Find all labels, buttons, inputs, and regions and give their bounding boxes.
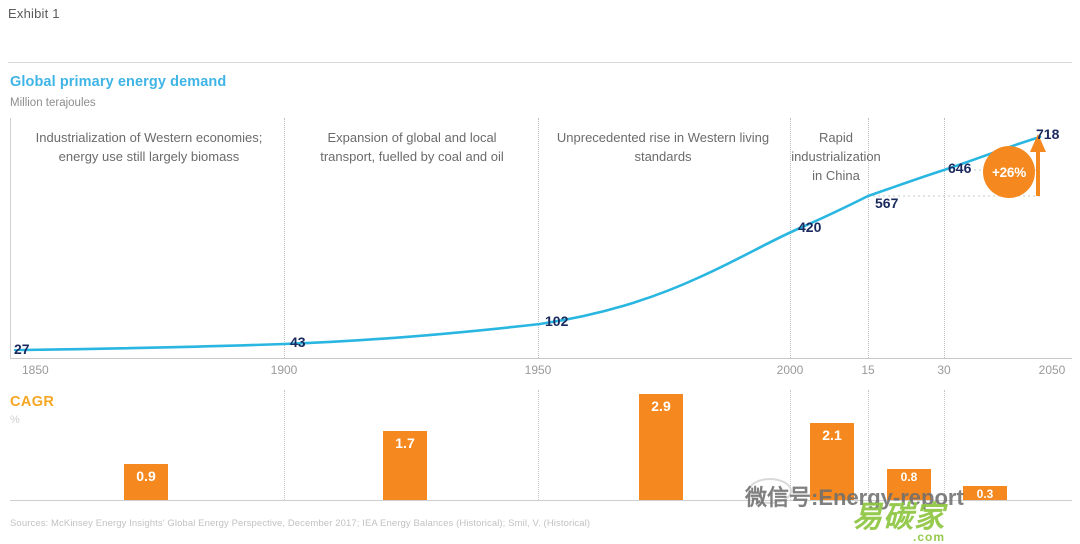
y-axis-line [10, 118, 11, 358]
data-label-5: 567 [875, 195, 898, 211]
era-annotation-4: Rapid industrialization in China [788, 128, 884, 185]
cagr-bar-3: 2.9 [639, 394, 683, 500]
era-divider-2 [538, 118, 539, 358]
data-label-7: 718 [1036, 126, 1059, 142]
cagr-bar-label-4: 2.1 [822, 427, 841, 443]
data-label-3: 102 [545, 313, 568, 329]
cagr-bar-label-1: 0.9 [136, 468, 155, 484]
data-label-4: 420 [798, 219, 821, 235]
cagr-bar-1: 0.9 [124, 464, 168, 500]
data-label-1: 27 [14, 341, 30, 357]
cagr-bar-label-6: 0.3 [977, 487, 994, 501]
sources-note: Sources: McKinsey Energy Insights' Globa… [10, 518, 590, 529]
cagr-bar-2: 1.7 [383, 431, 427, 500]
data-label-2: 43 [290, 334, 306, 350]
demand-line [22, 137, 1040, 350]
cagr-unit: % [10, 414, 20, 426]
x-tick-1: 1850 [22, 363, 49, 377]
era-annotation-2: Expansion of global and local transport,… [300, 128, 524, 166]
growth-badge: +26% [983, 146, 1035, 198]
chart-subtitle: Million terajoules [10, 97, 96, 109]
era-annotation-3: Unprecedented rise in Western living sta… [552, 128, 774, 166]
x-tick-2: 1900 [271, 363, 298, 377]
exhibit-chart: Exhibit 1 Global primary energy demand M… [0, 0, 1080, 542]
x-axis-line [10, 358, 1072, 359]
data-label-6: 646 [948, 160, 971, 176]
x-tick-4: 2000 [777, 363, 804, 377]
x-tick-5: 15 [861, 363, 874, 377]
era-divider-5 [944, 118, 945, 358]
x-tick-3: 1950 [525, 363, 552, 377]
cagr-title: CAGR [10, 394, 54, 410]
chart-title: Global primary energy demand [10, 74, 226, 90]
cagr-bar-label-3: 2.9 [651, 398, 670, 414]
cagr-divider-2 [538, 390, 539, 500]
cagr-bar-label-2: 1.7 [395, 435, 414, 451]
exhibit-label: Exhibit 1 [8, 6, 60, 21]
cagr-divider-1 [284, 390, 285, 500]
x-tick-7: 2050 [1039, 363, 1066, 377]
cagr-bar-6: 0.3 [963, 486, 1007, 500]
x-tick-6: 30 [937, 363, 950, 377]
header-divider [8, 62, 1072, 63]
watermark-logo: 易碳家 .com [852, 492, 945, 544]
era-annotation-1: Industrialization of Western economies; … [24, 128, 274, 166]
era-divider-1 [284, 118, 285, 358]
